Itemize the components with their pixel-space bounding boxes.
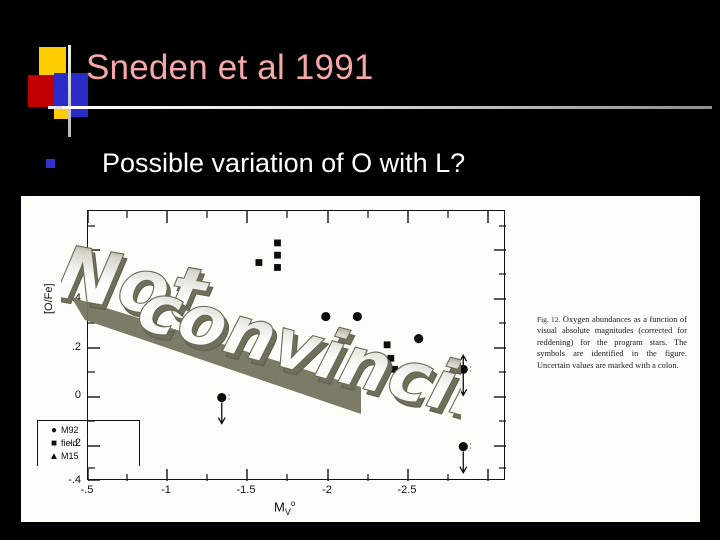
- x-tick-label-2: -1.5: [226, 484, 266, 496]
- x-minor-ticks-top: [127, 211, 448, 218]
- bullet-marker-icon: [46, 159, 55, 168]
- legend-label-field: field: [61, 437, 78, 450]
- uncertain-colon-marker: :: [469, 441, 472, 451]
- x-tick-label-1: -1: [146, 484, 186, 496]
- uncertain-colon-marker: :: [228, 392, 231, 402]
- presentation-slide: Sneden et al 1991 Possible variation of …: [0, 0, 720, 540]
- upper-limit-arrow: [460, 355, 467, 395]
- data-point-m92: [217, 393, 226, 402]
- data-point-field: [337, 329, 344, 336]
- y-minor-ticks-right: [499, 226, 506, 468]
- plot-svg: :::: [88, 211, 506, 481]
- scatter-plot: :::: [87, 210, 505, 480]
- x-tick-label-3: -2: [307, 484, 347, 496]
- legend-item-m92: ● M92: [47, 424, 79, 437]
- page-title: Sneden et al 1991: [86, 48, 374, 88]
- data-point-m92: [353, 312, 362, 321]
- data-point-field: [274, 252, 281, 259]
- x-tick-label-4: -2.5: [387, 484, 427, 496]
- bullet-item: Possible variation of O with L?: [46, 150, 465, 177]
- data-point-field: [274, 264, 281, 271]
- figure-panel: [O/Fe] .6 .4 .2 0 -.2 -.4 -.5 -1 -1.5 -2…: [21, 196, 700, 522]
- uncertain-colon-marker: :: [469, 363, 472, 373]
- legend-label-m15: M15: [61, 450, 79, 463]
- data-point-field: [256, 259, 263, 266]
- legend-triangle-icon: ▲: [47, 450, 61, 463]
- data-point-field: [384, 341, 391, 348]
- x-tick-label-0: -.5: [67, 484, 107, 496]
- title-divider: [62, 106, 712, 109]
- y-tick-label-1: .4: [51, 292, 81, 304]
- data-point-m92: [459, 442, 468, 451]
- y-tick-label-2: .2: [51, 341, 81, 353]
- upper-limit-arrow: [460, 452, 467, 473]
- figure-caption: Fig. 12. Oxygen abundances as a function…: [537, 314, 687, 371]
- data-point-field: [274, 240, 281, 247]
- y-tick-label-3: 0: [51, 389, 81, 401]
- data-point-field: [391, 366, 398, 373]
- legend-square-icon: ■: [47, 437, 61, 450]
- x-axis-label: MVo: [274, 499, 295, 517]
- x-major-ticks-bottom: [88, 469, 488, 481]
- legend-item-field: ■ field: [47, 437, 79, 450]
- data-point-m92: [321, 312, 330, 321]
- legend-label-m92: M92: [61, 424, 79, 437]
- y-tick-label-0: .6: [51, 244, 81, 256]
- legend-item-m15: ▲ M15: [47, 450, 79, 463]
- legend: ● M92 ■ field ▲ M15: [47, 424, 79, 463]
- figure-caption-text: Oxygen abundances as a function of visua…: [537, 315, 687, 370]
- data-points-layer: :::: [217, 240, 472, 473]
- y-major-ticks-right: [494, 250, 506, 446]
- data-point-m92: [414, 334, 423, 343]
- figure-caption-label: Fig. 12.: [537, 315, 560, 324]
- data-point-field: [387, 355, 394, 362]
- legend-circle-icon: ●: [47, 424, 61, 437]
- x-minor-ticks-bottom: [127, 474, 448, 481]
- logo-vertical-bar: [68, 45, 71, 137]
- x-major-ticks-top: [88, 211, 488, 223]
- bullet-item-label: Possible variation of O with L?: [102, 150, 465, 177]
- upper-limit-arrow: [218, 403, 225, 424]
